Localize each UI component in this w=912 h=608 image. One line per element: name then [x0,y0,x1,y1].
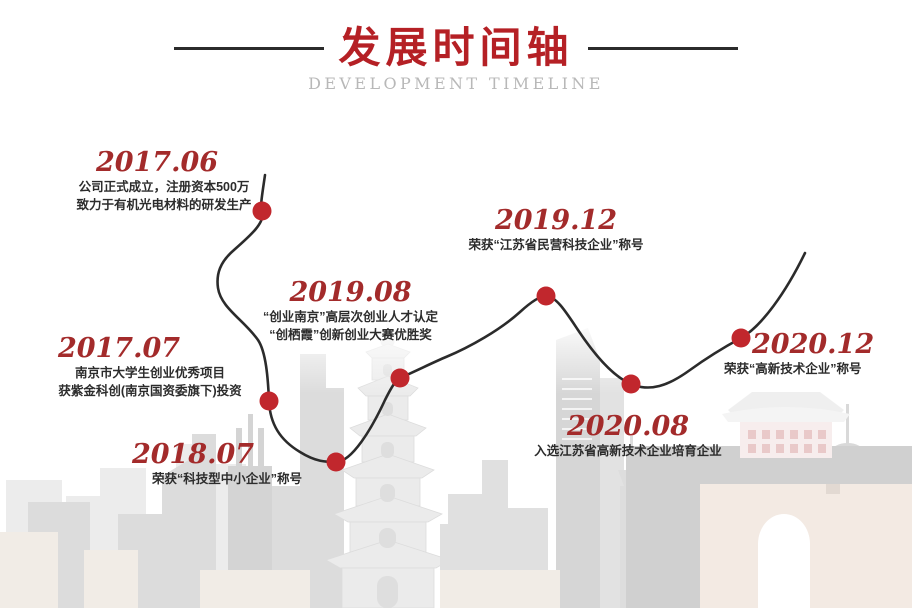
timeline-entry-2019-08[interactable]: 2019.08 “创业南京”高层次创业人才认定 “创栖霞”创新创业大赛优胜奖 [228,278,473,344]
entry-date: 2020.12 [724,330,908,360]
entry-date: 2018.07 [112,440,342,470]
timeline-entry-2017-06[interactable]: 2017.06 公司正式成立，注册资本500万 致力于有机光电材料的研发生产 [44,148,284,214]
page-subtitle: DEVELOPMENT TIMELINE [0,74,912,93]
entry-desc-line-2: 致力于有机光电材料的研发生产 [44,196,284,214]
entry-desc-line-1: 南京市大学生创业优秀项目 [20,364,280,382]
entry-desc-line-2: “创栖霞”创新创业大赛优胜奖 [228,326,473,344]
timeline-entry-2020-12[interactable]: 2020.12 荣获“高新技术企业”称号 [724,330,908,378]
page-header: 发展时间轴 DEVELOPMENT TIMELINE [0,26,912,93]
entry-desc-line-1: 荣获“江苏省民营科技企业”称号 [440,236,672,254]
entry-desc-line-1: 公司正式成立，注册资本500万 [44,178,284,196]
timeline-entry-2018-07[interactable]: 2018.07 荣获“科技型中小企业”称号 [112,440,342,488]
entry-desc-line-1: 荣获“科技型中小企业”称号 [112,470,342,488]
entry-desc-line-1: 荣获“高新技术企业”称号 [724,360,908,378]
entry-date: 2019.12 [440,206,672,236]
title-rule-right [588,47,738,50]
entry-date: 2017.06 [44,148,284,178]
entry-date: 2020.08 [508,412,748,442]
timeline-entry-2019-12[interactable]: 2019.12 荣获“江苏省民营科技企业”称号 [440,206,672,254]
timeline-dot-2019-08[interactable] [391,369,410,388]
timeline-dot-2019-12[interactable] [537,287,556,306]
entry-desc-line-1: 入选江苏省高新技术企业培育企业 [508,442,748,460]
timeline-dot-2020-08[interactable] [622,375,641,394]
entry-date: 2019.08 [228,278,473,308]
title-row: 发展时间轴 [0,26,912,70]
title-rule-left [174,47,324,50]
timeline-entry-2020-08[interactable]: 2020.08 入选江苏省高新技术企业培育企业 [508,412,748,460]
page-title: 发展时间轴 [338,26,573,70]
timeline-infographic: 发展时间轴 DEVELOPMENT TIMELINE 2017.06 公司正式成… [0,0,912,608]
entry-desc-line-1: “创业南京”高层次创业人才认定 [228,308,473,326]
entry-desc-line-2: 获紫金科创(南京国资委旗下)投资 [20,382,280,400]
